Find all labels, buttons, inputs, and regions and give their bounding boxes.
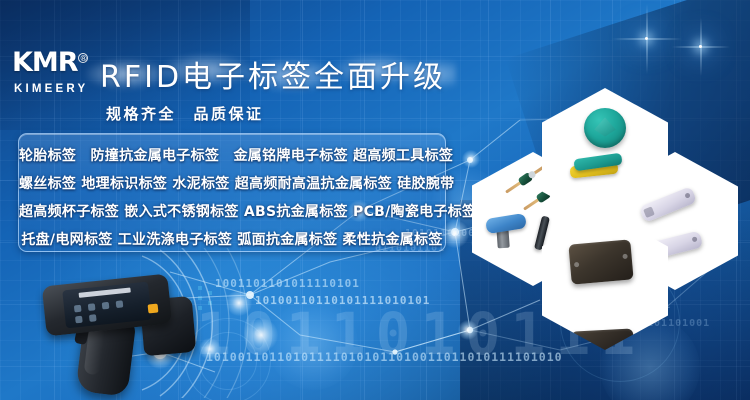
tag-row: 螺丝标签 地理标识标签 水泥标签 超高频耐高温抗金属标签 硅胶腕带 — [19, 170, 445, 198]
tag-slot — [643, 206, 655, 218]
screen-icon — [75, 316, 83, 324]
screen-icon — [102, 302, 110, 310]
grid-node — [699, 45, 702, 48]
rfid-promo-banner: 1011010111 1001101101011110101 101001101… — [0, 0, 750, 400]
product-tag-panel: 轮胎标签 防撞抗金属电子标签 金属铭牌电子标签 超高频工具标签 螺丝标签 地理标… — [18, 133, 446, 252]
tag-row: 轮胎标签 防撞抗金属电子标签 金属铭牌电子标签 超高频工具标签 — [19, 142, 445, 170]
screw-tag-head — [485, 213, 527, 234]
logo-mark-text: KMR — [12, 47, 78, 78]
page-subtitle: 规格齐全 品质保证 — [106, 103, 264, 124]
page-title: RFID电子标签全面升级 — [100, 52, 446, 96]
binary-line-3: 1010011011010111101010110100110110101111… — [206, 350, 563, 364]
tag-row: 超高频杯子标签 嵌入式不锈钢标签 ABS抗金属标签 PCB/陶瓷电子标签 — [19, 198, 445, 226]
grid-node — [645, 37, 648, 40]
handheld-rfid-reader — [34, 272, 220, 398]
tag-hole — [684, 192, 691, 199]
tag-hole — [692, 236, 698, 242]
reader-brand-accent — [148, 304, 159, 314]
tag-hole — [622, 254, 627, 259]
screen-icon — [116, 300, 124, 308]
binary-line-1: 1001101101011110101 — [215, 277, 360, 290]
screen-icon — [74, 305, 82, 313]
screen-statusbar — [79, 287, 131, 297]
binary-line-2: 10100110110101111010101 — [255, 294, 430, 307]
reader-screen — [62, 282, 152, 329]
tag-hole — [574, 262, 579, 267]
light-bokeh — [462, 150, 480, 168]
teal-disc-tag — [584, 108, 626, 148]
white-uhf-tag — [639, 186, 697, 223]
screen-icon — [88, 303, 96, 311]
glass-tube-tag — [505, 165, 545, 193]
anti-metal-block-tag — [568, 239, 633, 284]
screen-icon — [89, 314, 97, 322]
tag-row: 托盘/电网标签 工业洗涤电子标签 弧面抗金属标签 柔性抗金属标签 — [19, 226, 445, 254]
